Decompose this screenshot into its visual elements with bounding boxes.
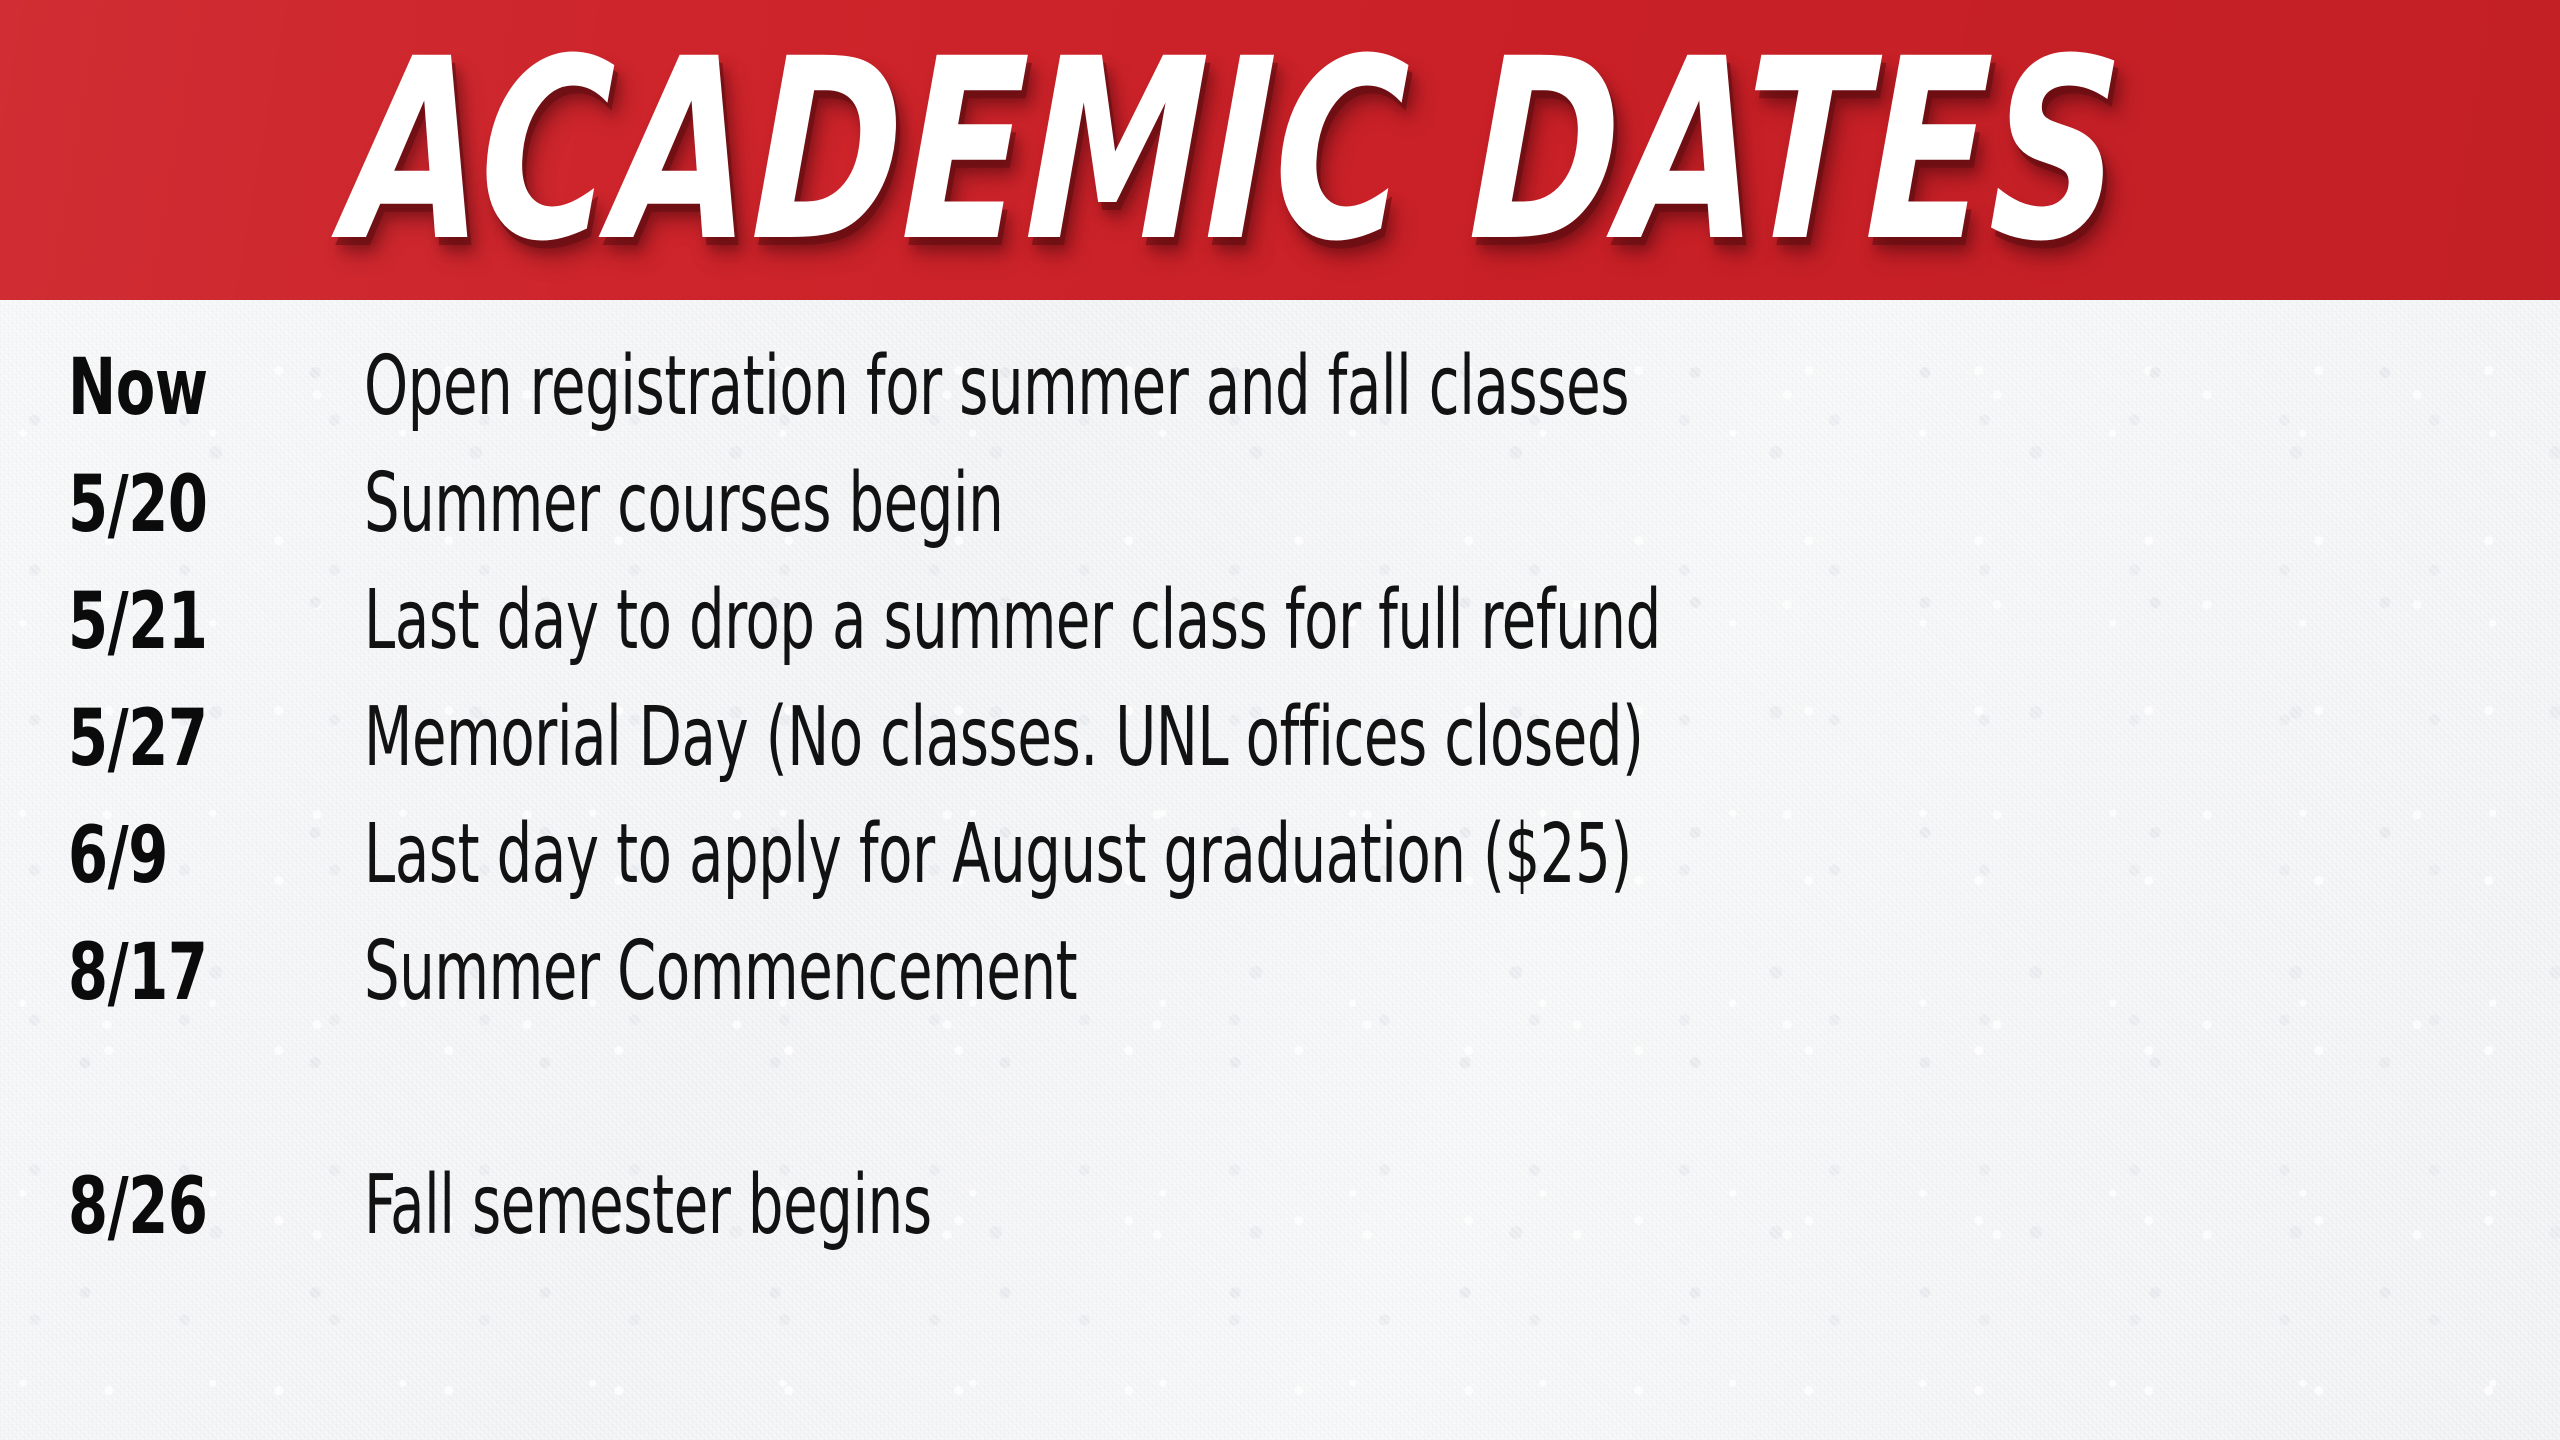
date-row-spacer bbox=[68, 1048, 364, 1152]
header-banner: ACADEMIC DATES bbox=[0, 0, 2560, 300]
date-row: 8/17Summer Commencement bbox=[68, 931, 1302, 1035]
date-description-cell: Summer Commencement bbox=[364, 931, 1077, 1013]
date-description-cell: Summer courses begin bbox=[364, 463, 1003, 545]
date-cell: 6/9 bbox=[68, 817, 311, 895]
date-cell: 5/20 bbox=[68, 466, 311, 544]
date-description-cell: Last day to apply for August graduation … bbox=[364, 814, 1632, 896]
date-row: 5/20Summer courses begin bbox=[68, 463, 1205, 567]
date-cell: 5/27 bbox=[68, 700, 311, 778]
date-row: 6/9Last day to apply for August graduati… bbox=[68, 814, 2032, 918]
academic-dates-slide: ACADEMIC DATES NowOpen registration for … bbox=[0, 0, 2560, 1440]
date-row: 8/26Fall semester begins bbox=[68, 1165, 1111, 1269]
date-cell: 8/17 bbox=[68, 934, 311, 1012]
date-row: NowOpen registration for summer and fall… bbox=[68, 346, 2029, 450]
academic-dates-list: NowOpen registration for summer and fall… bbox=[0, 300, 2560, 1440]
date-description-cell: Last day to drop a summer class for full… bbox=[364, 580, 1661, 662]
date-cell: 8/26 bbox=[68, 1168, 311, 1246]
page-title-text: ACADEMIC DATES bbox=[342, 33, 2126, 268]
date-cell: 5/21 bbox=[68, 583, 311, 661]
date-description-cell: Fall semester begins bbox=[364, 1165, 932, 1247]
date-description-cell: Open registration for summer and fall cl… bbox=[364, 346, 1629, 428]
page-title: ACADEMIC DATES bbox=[0, 0, 2560, 300]
date-row: 5/21Last day to drop a summer class for … bbox=[68, 580, 2070, 684]
date-cell: Now bbox=[68, 349, 311, 427]
date-row: 5/27Memorial Day (No classes. UNL office… bbox=[68, 697, 2048, 801]
date-description-cell: Memorial Day (No classes. UNL offices cl… bbox=[364, 697, 1644, 779]
